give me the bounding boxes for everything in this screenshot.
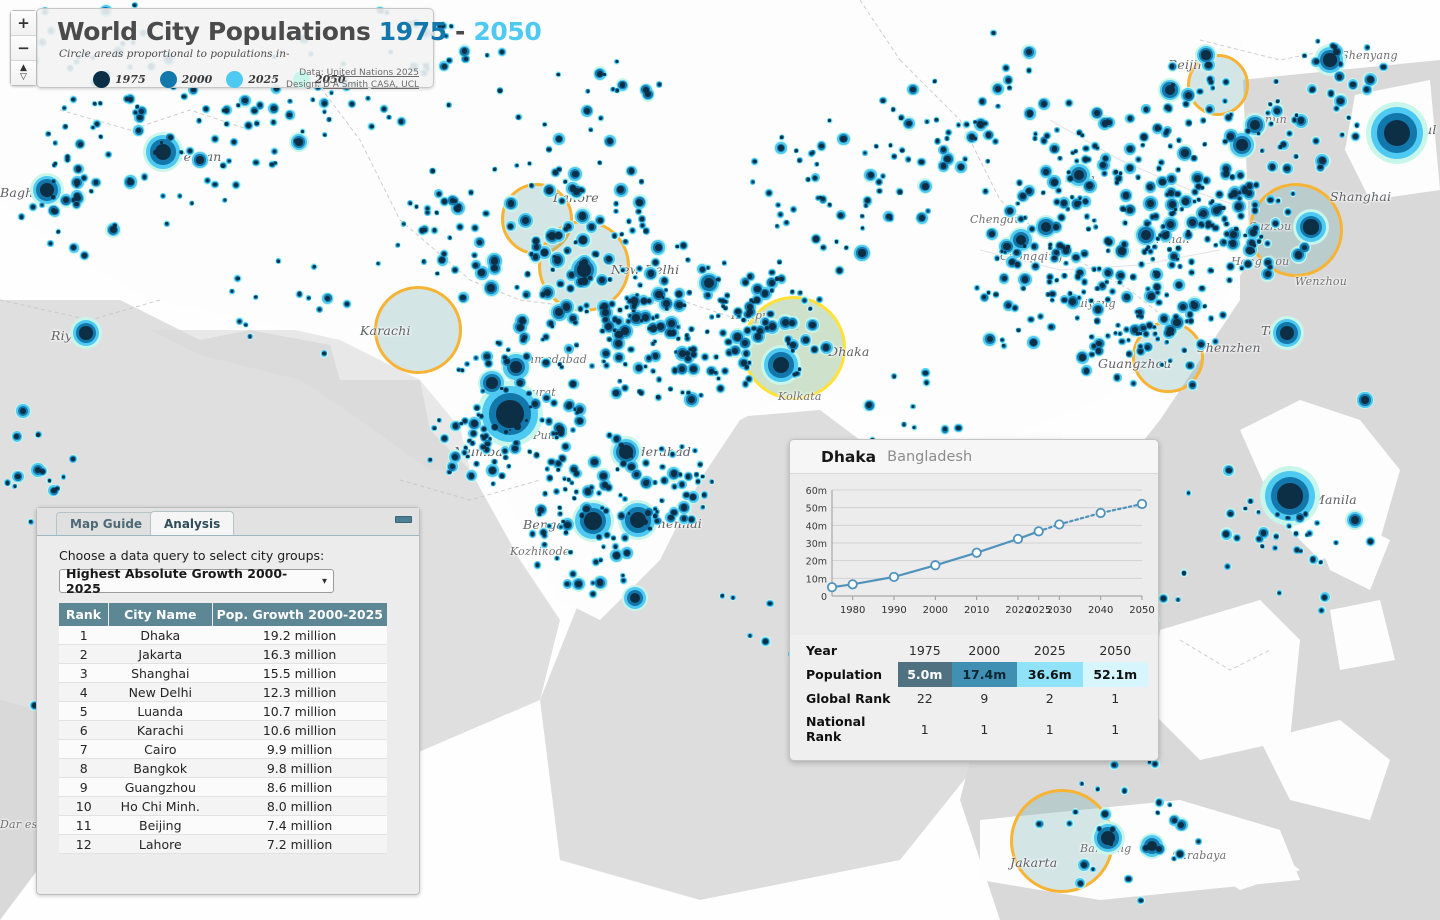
city-bubble[interactable]	[1083, 157, 1088, 162]
city-bubble[interactable]	[489, 437, 492, 440]
city-bubble[interactable]	[1127, 207, 1133, 213]
city-bubble[interactable]	[621, 461, 625, 465]
city-bubble[interactable]	[1276, 100, 1279, 103]
city-bubble[interactable]	[1154, 332, 1157, 335]
city-bubble[interactable]	[1071, 196, 1074, 199]
city-bubble[interactable]	[600, 473, 606, 479]
city-bubble[interactable]	[1270, 122, 1273, 125]
city-bubble[interactable]	[1225, 222, 1228, 225]
city-bubble[interactable]	[837, 268, 842, 273]
city-bubble[interactable]	[1279, 145, 1282, 148]
city-bubble[interactable]	[655, 291, 663, 299]
city-bubble[interactable]	[1022, 287, 1025, 290]
city-bubble[interactable]	[581, 277, 588, 284]
city-bubble[interactable]	[1029, 318, 1033, 322]
city-bubble[interactable]	[812, 347, 816, 351]
city-bubble[interactable]	[599, 277, 605, 283]
city-bubble[interactable]	[1082, 252, 1086, 256]
city-bubble[interactable]	[1079, 354, 1086, 361]
city-bubble[interactable]	[51, 195, 55, 199]
city-bubble[interactable]	[554, 256, 562, 264]
city-bubble[interactable]	[624, 363, 627, 366]
city-bubble[interactable]	[274, 162, 277, 165]
city-bubble[interactable]	[648, 270, 655, 277]
city-bubble[interactable]	[613, 390, 619, 396]
city-bubble[interactable]	[1168, 248, 1171, 251]
city-bubble[interactable]	[464, 57, 468, 61]
city-bubble[interactable]	[646, 480, 649, 483]
city-bubble[interactable]	[1139, 345, 1142, 348]
city-bubble[interactable]	[1166, 330, 1172, 336]
city-bubble[interactable]	[702, 493, 706, 497]
city-bubble[interactable]	[520, 317, 524, 321]
city-bubble[interactable]	[614, 436, 619, 441]
city-bubble[interactable]	[807, 178, 810, 181]
city-bubble[interactable]	[143, 175, 147, 179]
city-bubble[interactable]	[1261, 545, 1264, 548]
city-bubble[interactable]	[485, 442, 489, 446]
city-bubble[interactable]	[133, 4, 136, 7]
city-bubble[interactable]	[608, 433, 611, 436]
city-bubble[interactable]	[644, 461, 648, 465]
city-bubble[interactable]	[237, 104, 240, 107]
city-bubble[interactable]	[1190, 260, 1194, 264]
city-bubble[interactable]	[1295, 114, 1298, 117]
city-bubble[interactable]	[992, 31, 995, 34]
city-bubble[interactable]	[1050, 292, 1054, 296]
city-bubble[interactable]	[1144, 107, 1149, 112]
city-bubble[interactable]	[620, 233, 623, 236]
city-bubble[interactable]	[1350, 82, 1355, 87]
city-bubble[interactable]	[1167, 221, 1174, 228]
city-bubble[interactable]	[1223, 217, 1227, 221]
city-bubble[interactable]	[1020, 193, 1026, 199]
city-bubble[interactable]	[845, 246, 848, 249]
city-bubble[interactable]	[64, 125, 67, 128]
city-bubble[interactable]	[560, 456, 563, 459]
city-bubble[interactable]	[1295, 251, 1302, 258]
city-bubble[interactable]	[640, 180, 643, 183]
city-bubble[interactable]	[1194, 175, 1201, 182]
city-bubble[interactable]	[507, 349, 510, 352]
city-bubble[interactable]	[1067, 171, 1070, 174]
city-bubble[interactable]	[504, 456, 507, 459]
city-bubble[interactable]	[1017, 202, 1020, 205]
city-bubble[interactable]	[753, 160, 756, 163]
city-bubble[interactable]	[625, 306, 628, 309]
city-bubble[interactable]	[555, 232, 561, 238]
city-bubble[interactable]	[641, 298, 647, 304]
city-bubble[interactable]	[551, 268, 554, 271]
city-bubble[interactable]	[757, 328, 763, 334]
city-bubble[interactable]	[1147, 323, 1151, 327]
city-bubble[interactable]	[1003, 243, 1011, 251]
city-bubble[interactable]	[673, 368, 677, 372]
city-bubble[interactable]	[1136, 310, 1139, 313]
city-bubble[interactable]	[370, 125, 374, 129]
city-bubble[interactable]	[563, 478, 566, 481]
city-bubble[interactable]	[564, 488, 567, 491]
city-bubble[interactable]	[471, 431, 476, 436]
city-bubble[interactable]	[717, 315, 720, 318]
city-bubble[interactable]	[1170, 64, 1175, 69]
city-bubble[interactable]	[486, 361, 491, 366]
city-bubble[interactable]	[1265, 271, 1271, 277]
city-bubble[interactable]	[1170, 263, 1174, 267]
city-bubble[interactable]	[958, 164, 964, 170]
city-bubble[interactable]	[221, 164, 225, 168]
city-bubble[interactable]	[535, 453, 539, 457]
city-bubble[interactable]	[1221, 206, 1224, 209]
city-bubble[interactable]	[1123, 789, 1127, 793]
city-bubble[interactable]	[957, 124, 960, 127]
city-bubble[interactable]	[1177, 598, 1180, 601]
city-bubble[interactable]	[598, 492, 601, 495]
city-bubble[interactable]	[1191, 301, 1194, 304]
city-bubble[interactable]	[1145, 345, 1150, 350]
city-bubble[interactable]	[616, 355, 622, 361]
city-bubble[interactable]	[642, 314, 649, 321]
city-bubble[interactable]	[632, 310, 635, 313]
city-bubble[interactable]	[612, 537, 615, 540]
city-bubble[interactable]	[819, 144, 824, 149]
city-bubble[interactable]	[78, 142, 83, 147]
city-bubble[interactable]	[1253, 244, 1256, 247]
city-bubble[interactable]	[892, 108, 895, 111]
city-bubble[interactable]	[492, 424, 498, 430]
city-bubble[interactable]	[504, 388, 508, 392]
city-bubble[interactable]	[1087, 228, 1090, 231]
city-bubble[interactable]	[517, 324, 524, 331]
city-bubble[interactable]	[504, 430, 508, 434]
city-bubble[interactable]	[775, 277, 778, 280]
city-bubble[interactable]	[1206, 237, 1210, 241]
city-bubble[interactable]	[1043, 169, 1049, 175]
city-bubble[interactable]	[681, 445, 684, 448]
city-bubble[interactable]	[624, 550, 630, 556]
city-bubble[interactable]	[508, 224, 513, 229]
city-bubble[interactable]	[323, 134, 326, 137]
city-bubble[interactable]	[615, 340, 622, 347]
city-bubble[interactable]	[1317, 40, 1320, 43]
city-bubble[interactable]	[941, 163, 947, 169]
city-bubble[interactable]	[1337, 74, 1343, 80]
city-bubble[interactable]	[599, 559, 602, 562]
city-bubble[interactable]	[1074, 150, 1077, 153]
city-bubble[interactable]	[1006, 303, 1011, 308]
city-bubble[interactable]	[1244, 507, 1247, 510]
city-bubble[interactable]	[1013, 306, 1017, 310]
city-bubble[interactable]	[429, 458, 432, 461]
city-bubble[interactable]	[996, 257, 999, 260]
city-bubble[interactable]	[1127, 165, 1133, 171]
city-bubble[interactable]	[168, 135, 173, 140]
city-bubble[interactable]	[1018, 181, 1021, 184]
city-bubble[interactable]	[1147, 184, 1153, 190]
city-bubble[interactable]	[514, 447, 517, 450]
city-bubble[interactable]	[1081, 862, 1087, 868]
city-bubble[interactable]	[255, 122, 258, 125]
city-bubble[interactable]	[665, 307, 668, 310]
city-bubble[interactable]	[533, 238, 538, 243]
city-bubble[interactable]	[747, 377, 751, 381]
city-bubble[interactable]	[828, 119, 831, 122]
city-bubble[interactable]	[1284, 166, 1289, 171]
city-bubble[interactable]	[579, 307, 583, 311]
city-bubble[interactable]	[627, 320, 630, 323]
city-bubble[interactable]	[671, 470, 678, 477]
city-bubble[interactable]	[469, 473, 474, 478]
city-bubble[interactable]	[1048, 275, 1052, 279]
city-bubble[interactable]	[809, 322, 815, 328]
city-bubble[interactable]	[137, 115, 143, 121]
city-bubble[interactable]	[1277, 199, 1280, 202]
city-bubble[interactable]	[1244, 234, 1247, 237]
city-bubble[interactable]	[754, 297, 759, 302]
city-bubble[interactable]	[1275, 80, 1278, 83]
city-bubble[interactable]	[558, 363, 561, 366]
city-bubble[interactable]	[1254, 183, 1258, 187]
city-bubble[interactable]	[711, 480, 714, 483]
city-bubble[interactable]	[558, 506, 561, 509]
city-bubble[interactable]	[1158, 127, 1161, 130]
city-bubble[interactable]	[1273, 221, 1278, 226]
city-bubble[interactable]	[813, 236, 818, 241]
city-bubble[interactable]	[614, 545, 618, 549]
city-bubble[interactable]	[1061, 200, 1067, 206]
city-bubble[interactable]	[1069, 292, 1072, 295]
city-bubble[interactable]	[1270, 164, 1275, 169]
city-bubble[interactable]	[1095, 306, 1101, 312]
city-bubble[interactable]	[598, 218, 603, 223]
city-bubble[interactable]	[628, 512, 631, 515]
city-bubble[interactable]	[1002, 276, 1007, 281]
city-bubble[interactable]	[717, 377, 720, 380]
city-bubble[interactable]	[508, 200, 515, 207]
city-bubble[interactable]	[648, 527, 652, 531]
city-bubble[interactable]	[1115, 181, 1118, 184]
city-bubble[interactable]	[1286, 210, 1290, 214]
city-bubble[interactable]	[690, 494, 696, 500]
city-bubble[interactable]	[657, 323, 664, 330]
city-bubble[interactable]	[1153, 762, 1157, 766]
city-bubble[interactable]	[442, 64, 447, 69]
city-bubble[interactable]	[1154, 284, 1159, 289]
city-bubble[interactable]	[1077, 131, 1081, 135]
city-bubble[interactable]	[1187, 121, 1191, 125]
city-bubble[interactable]	[1132, 382, 1135, 385]
city-bubble[interactable]	[1168, 190, 1174, 196]
city-bubble[interactable]	[983, 122, 987, 126]
city-bubble[interactable]	[572, 171, 579, 178]
city-bubble[interactable]	[1148, 296, 1151, 299]
city-bubble[interactable]	[690, 366, 696, 372]
city-bubble[interactable]	[1192, 156, 1196, 160]
city-bubble[interactable]	[556, 557, 559, 560]
city-bubble[interactable]	[1188, 363, 1193, 368]
city-bubble[interactable]	[1126, 877, 1130, 881]
city-bubble[interactable]	[328, 118, 331, 121]
city-bubble[interactable]	[228, 160, 231, 163]
city-bubble[interactable]	[549, 321, 554, 326]
city-bubble[interactable]	[1257, 511, 1260, 514]
city-bubble[interactable]	[1243, 186, 1247, 190]
city-bubble[interactable]	[935, 118, 938, 121]
city-bubble[interactable]	[575, 344, 578, 347]
city-bubble[interactable]	[1131, 275, 1135, 279]
city-bubble[interactable]	[504, 359, 510, 365]
city-bubble[interactable]	[669, 388, 672, 391]
city-bubble[interactable]	[778, 261, 781, 264]
city-bubble[interactable]	[620, 513, 623, 516]
city-bubble[interactable]	[1204, 178, 1209, 183]
city-bubble[interactable]	[1261, 530, 1267, 536]
city-bubble[interactable]	[987, 291, 990, 294]
city-bubble[interactable]	[910, 87, 916, 93]
city-bubble[interactable]	[1052, 146, 1058, 152]
city-bubble[interactable]	[559, 512, 562, 515]
city-bubble[interactable]	[1238, 173, 1243, 178]
city-bubble[interactable]	[1229, 241, 1233, 245]
city-bubble[interactable]	[604, 509, 608, 513]
city-bubble[interactable]	[110, 226, 117, 233]
city-bubble[interactable]	[1090, 299, 1093, 302]
city-bubble[interactable]	[1119, 172, 1122, 175]
city-bubble[interactable]	[471, 420, 478, 427]
city-bubble[interactable]	[691, 347, 696, 352]
city-bubble[interactable]	[1172, 818, 1177, 823]
city-bubble[interactable]	[995, 86, 1001, 92]
city-bubble[interactable]	[677, 337, 680, 340]
city-bubble[interactable]	[1189, 319, 1193, 323]
city-bubble[interactable]	[1045, 134, 1049, 138]
city-bubble[interactable]	[1202, 119, 1205, 122]
city-bubble[interactable]	[213, 183, 217, 187]
city-bubble[interactable]	[653, 353, 659, 359]
city-bubble[interactable]	[1124, 294, 1130, 300]
city-bubble[interactable]	[95, 122, 99, 126]
city-bubble[interactable]	[500, 474, 504, 478]
city-bubble[interactable]	[1337, 98, 1343, 104]
city-bubble[interactable]	[564, 531, 567, 534]
city-bubble[interactable]	[1063, 247, 1069, 253]
city-bubble[interactable]	[471, 441, 474, 444]
city-bubble[interactable]	[616, 468, 619, 471]
city-bubble[interactable]	[741, 360, 747, 366]
city-bubble[interactable]	[1170, 212, 1174, 216]
city-bubble[interactable]	[1092, 868, 1095, 871]
city-bubble[interactable]	[683, 304, 686, 307]
city-bubble[interactable]	[1176, 246, 1179, 249]
city-bubble[interactable]	[330, 92, 333, 95]
city-bubble[interactable]	[652, 317, 655, 320]
city-bubble[interactable]	[1303, 54, 1306, 57]
city-bubble[interactable]	[1051, 179, 1058, 186]
city-bubble[interactable]	[573, 497, 576, 500]
city-bubble[interactable]	[1184, 102, 1188, 106]
city-bubble[interactable]	[1118, 281, 1121, 284]
city-bubble[interactable]	[367, 97, 370, 100]
city-bubble[interactable]	[491, 257, 499, 265]
city-bubble[interactable]	[734, 333, 741, 340]
city-bubble[interactable]	[493, 460, 496, 463]
city-bubble[interactable]	[769, 280, 775, 286]
city-bubble[interactable]	[1207, 107, 1212, 112]
city-bubble[interactable]	[574, 408, 577, 411]
city-bubble[interactable]	[1213, 226, 1217, 230]
city-bubble[interactable]	[716, 278, 719, 281]
city-bubble[interactable]	[52, 209, 57, 214]
city-bubble[interactable]	[541, 249, 547, 255]
city-bubble[interactable]	[889, 144, 892, 147]
city-bubble[interactable]	[53, 164, 56, 167]
city-bubble[interactable]	[1210, 317, 1213, 320]
city-bubble[interactable]	[597, 535, 600, 538]
city-bubble[interactable]	[1274, 108, 1280, 114]
city-bubble[interactable]	[615, 202, 618, 205]
city-bubble[interactable]	[1156, 275, 1159, 278]
city-bubble[interactable]	[621, 269, 624, 272]
city-bubble[interactable]	[556, 461, 561, 466]
city-bubble[interactable]	[919, 215, 925, 221]
city-bubble[interactable]	[1138, 349, 1143, 354]
city-bubble[interactable]	[631, 297, 638, 304]
city-bubble[interactable]	[71, 98, 74, 101]
city-bubble[interactable]	[700, 394, 703, 397]
city-bubble[interactable]	[1127, 146, 1133, 152]
city-bubble[interactable]	[1182, 571, 1185, 574]
city-bubble[interactable]	[681, 243, 686, 248]
city-bubble[interactable]	[1055, 200, 1059, 204]
city-bubble[interactable]	[698, 463, 701, 466]
city-bubble[interactable]	[1226, 468, 1231, 473]
city-bubble[interactable]	[608, 278, 611, 281]
city-bubble[interactable]	[656, 395, 660, 399]
city-bubble[interactable]	[1157, 301, 1161, 305]
city-bubble[interactable]	[1141, 134, 1146, 139]
city-bubble[interactable]	[878, 189, 881, 192]
city-bubble[interactable]	[747, 309, 753, 315]
city-bubble[interactable]	[1201, 186, 1204, 189]
city-bubble[interactable]	[1055, 279, 1058, 282]
city-bubble[interactable]	[1190, 271, 1194, 275]
city-bubble[interactable]	[615, 210, 618, 213]
city-bubble[interactable]	[1176, 282, 1182, 288]
city-bubble[interactable]	[803, 337, 809, 343]
city-bubble[interactable]	[1006, 78, 1011, 83]
city-bubble[interactable]	[1048, 280, 1051, 283]
city-bubble[interactable]	[1304, 512, 1308, 516]
city-bubble[interactable]	[1007, 208, 1013, 214]
city-bubble[interactable]	[461, 369, 464, 372]
city-bubble[interactable]	[1023, 244, 1026, 247]
city-bubble[interactable]	[778, 145, 784, 151]
city-bubble[interactable]	[1093, 268, 1096, 271]
city-bubble[interactable]	[1063, 274, 1066, 277]
city-bubble[interactable]	[516, 286, 519, 289]
city-bubble[interactable]	[743, 280, 748, 285]
city-bubble[interactable]	[1116, 177, 1121, 182]
city-bubble[interactable]	[1144, 332, 1148, 336]
city-bubble[interactable]	[735, 309, 740, 314]
city-bubble[interactable]	[676, 302, 683, 309]
city-bubble[interactable]	[567, 478, 570, 481]
city-bubble[interactable]	[224, 108, 229, 113]
city-bubble[interactable]	[652, 370, 655, 373]
city-bubble[interactable]	[597, 581, 602, 586]
city-bubble[interactable]	[1053, 224, 1059, 230]
city-bubble[interactable]	[644, 365, 647, 368]
